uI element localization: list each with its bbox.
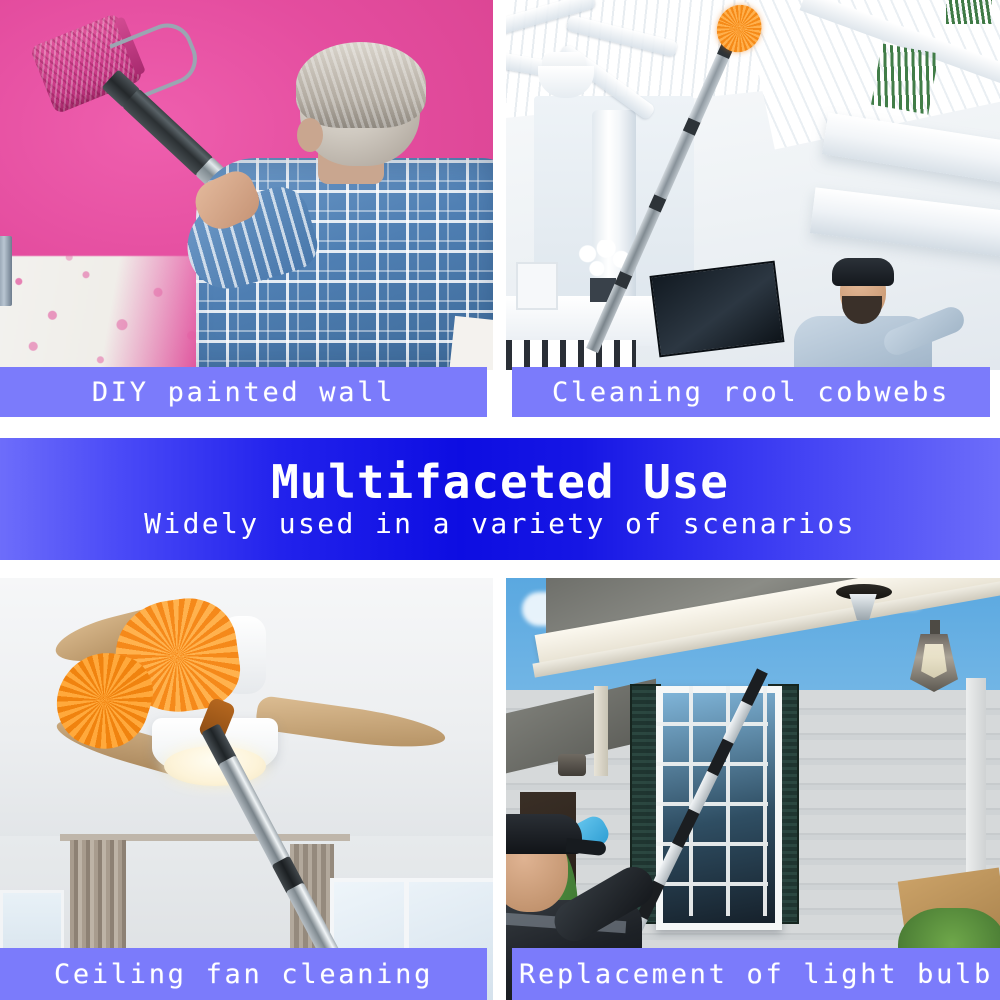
caption-top-right-text: Cleaning rool cobwebs (552, 377, 950, 408)
painter-gray-hair (296, 42, 426, 128)
banner-subtitle: Widely used in a variety of scenarios (144, 508, 856, 540)
wall-vent (558, 754, 586, 776)
painter-ear (297, 118, 323, 152)
caption-bottom-left-text: Ceiling fan cleaning (54, 959, 433, 990)
caption-bottom-right-text: Replacement of light bulb (519, 959, 993, 990)
center-banner: Multifaceted Use Widely used in a variet… (0, 438, 1000, 560)
photo-replacement-of-light-bulb (506, 578, 1000, 1000)
shelf-plant (871, 43, 939, 114)
downspout (594, 686, 608, 776)
banner-title: Multifaceted Use (271, 458, 729, 507)
photo-cleaning-roof-cobwebs (506, 0, 1000, 370)
wall-mounted-tv (649, 261, 784, 358)
photo-ceiling-fan-cleaning (0, 578, 493, 1000)
window-grille (656, 686, 768, 916)
caption-bottom-left: Ceiling fan cleaning (0, 948, 487, 1000)
ladder-rail (0, 236, 12, 306)
patterned-railing (506, 340, 636, 370)
caption-bottom-right: Replacement of light bulb (512, 948, 1000, 1000)
caption-top-right: Cleaning rool cobwebs (512, 367, 990, 417)
caption-top-left: DIY painted wall (0, 367, 487, 417)
paper-sheet (449, 316, 493, 370)
picture-frame (516, 262, 558, 310)
shelf-plant (946, 0, 992, 24)
infographic-page: DIY painted wall Cleaning rool cobwebs M… (0, 0, 1000, 1000)
black-cap (832, 258, 894, 286)
caption-top-left-text: DIY painted wall (92, 377, 395, 408)
photo-diy-painted-wall (0, 0, 493, 370)
